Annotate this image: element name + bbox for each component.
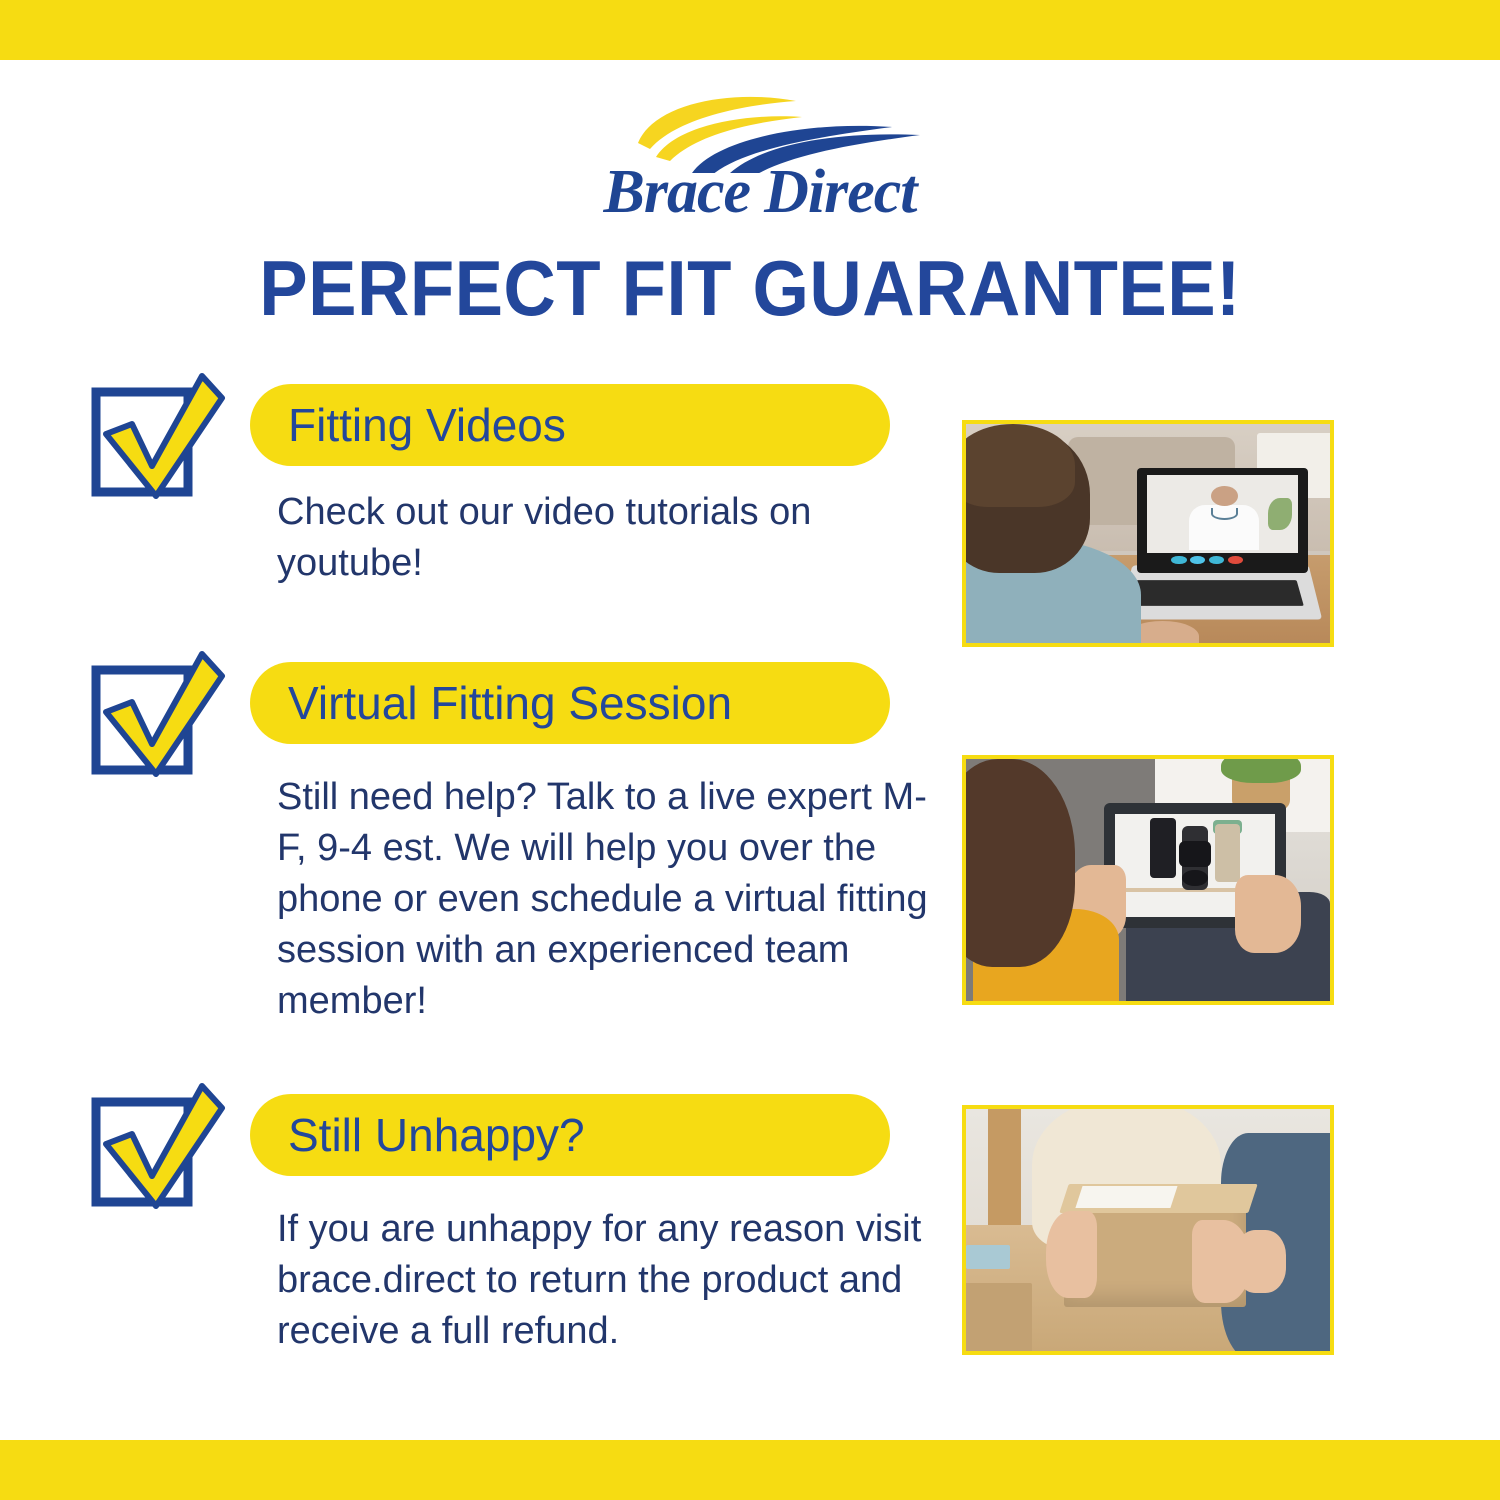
- bottom-yellow-band: [0, 1440, 1500, 1500]
- photo-package-handoff: [962, 1105, 1334, 1355]
- logo-word-direct: Direct: [764, 158, 916, 226]
- pill-label: Fitting Videos: [250, 398, 566, 452]
- photo-scene: [966, 424, 1330, 643]
- logo-wordmark: BraceDirect: [560, 157, 960, 228]
- checkbox-check-icon: [86, 1082, 226, 1210]
- photo-video-call: [962, 420, 1334, 647]
- feature-pill-still-unhappy[interactable]: Still Unhappy?: [250, 1094, 890, 1176]
- checkbox-check-icon: [86, 650, 226, 778]
- photo-scene: [966, 759, 1330, 1001]
- feature-description: Still need help? Talk to a live expert M…: [277, 772, 937, 1027]
- checkbox-check-icon: [86, 372, 226, 500]
- brace-direct-logo: BraceDirect: [560, 95, 960, 235]
- perfect-fit-guarantee-infographic: BraceDirect PERFECT FIT GUARANTEE! Fitti…: [0, 0, 1500, 1500]
- page-title: PERFECT FIT GUARANTEE!: [53, 243, 1448, 334]
- logo-word-brace: Brace: [604, 158, 751, 226]
- top-yellow-band: [0, 0, 1500, 60]
- feature-pill-fitting-videos[interactable]: Fitting Videos: [250, 384, 890, 466]
- photo-tablet-fitting: [962, 755, 1334, 1005]
- pill-label: Still Unhappy?: [250, 1108, 585, 1162]
- pill-label: Virtual Fitting Session: [250, 676, 732, 730]
- feature-description: Check out our video tutorials on youtube…: [277, 487, 937, 589]
- feature-pill-virtual-fitting-session[interactable]: Virtual Fitting Session: [250, 662, 890, 744]
- feature-description: If you are unhappy for any reason visit …: [277, 1204, 937, 1357]
- photo-scene: [966, 1109, 1330, 1351]
